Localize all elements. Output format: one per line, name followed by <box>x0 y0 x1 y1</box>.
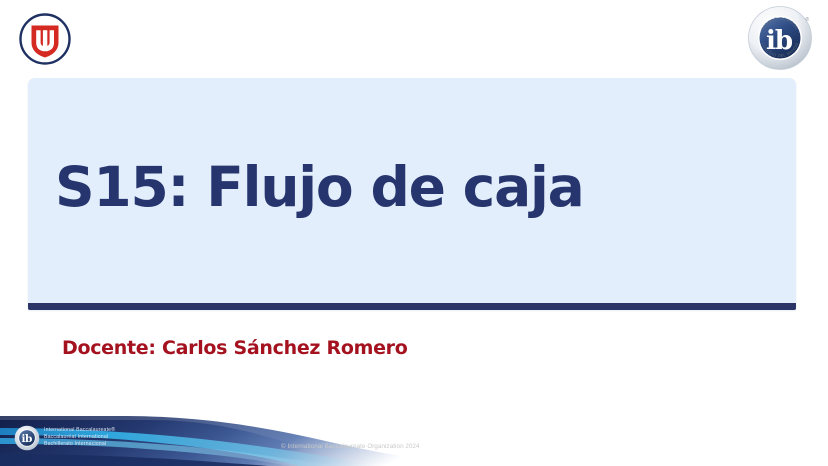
slide-canvas: · WORLD SCHOOL · · COLEGIO DEL MUNDO · i… <box>0 0 828 466</box>
presenter-name: Docente: Carlos Sánchez Romero <box>62 336 407 360</box>
footer-org-line-es: Bachillerato Internacional <box>44 441 115 448</box>
footer-organization-names: International Baccalaureate® Baccalauréa… <box>44 427 115 449</box>
page-title: S15: Flujo de caja <box>55 156 584 218</box>
title-panel: S15: Flujo de caja <box>28 78 796 310</box>
title-panel-accent-bar <box>28 303 796 310</box>
footer-ib-logo: ib <box>14 425 40 451</box>
footer-wave-graphic <box>0 414 828 466</box>
footer-org-line-fr: Baccalauréat International <box>44 434 115 441</box>
footer-org-line-en: International Baccalaureate® <box>44 427 115 434</box>
svg-text:ib: ib <box>766 26 793 56</box>
svg-text:ib: ib <box>22 433 32 445</box>
school-crest-logo <box>18 12 72 66</box>
svg-text:®: ® <box>806 16 810 23</box>
copyright-notice: © International Baccalaureate Organizati… <box>281 442 420 451</box>
ib-world-school-logo: · WORLD SCHOOL · · COLEGIO DEL MUNDO · i… <box>746 4 814 72</box>
